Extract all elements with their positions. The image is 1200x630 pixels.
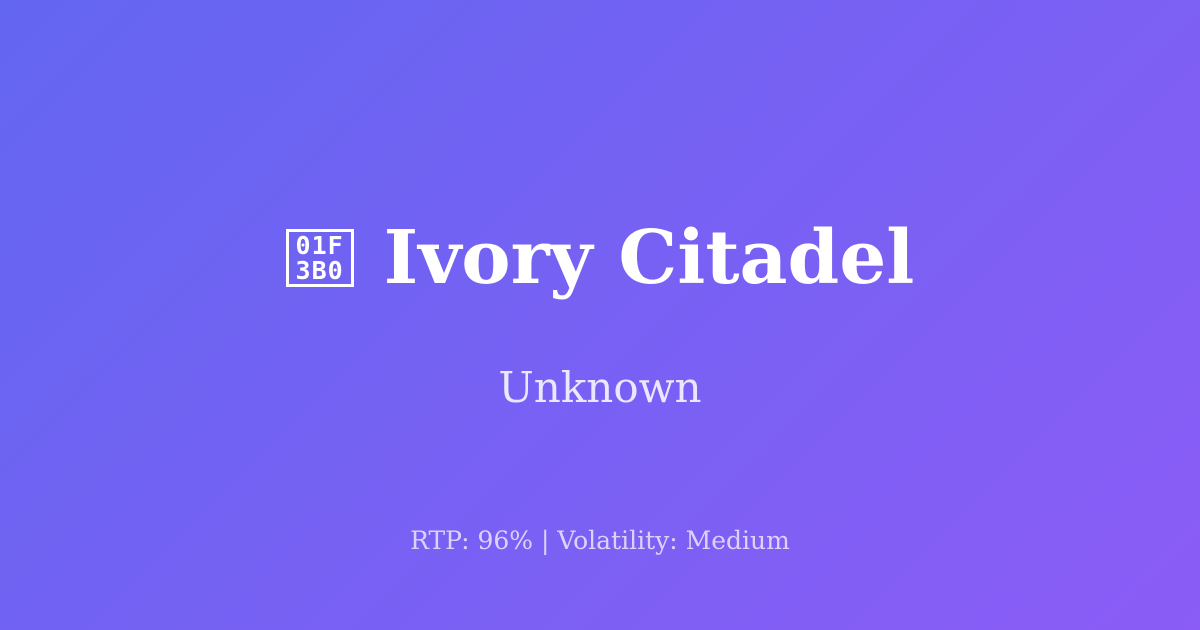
- tofu-codepoint-bottom: 3B0: [296, 258, 344, 284]
- game-title: Ivory Citadel: [384, 221, 915, 295]
- game-provider-label: Unknown: [498, 367, 701, 409]
- game-stats-line: RTP: 96% | Volatility: Medium: [0, 528, 1200, 553]
- og-share-card: 01F 3B0 Ivory Citadel Unknown RTP: 96% |…: [0, 0, 1200, 630]
- slot-machine-emoji-tofu-icon: 01F 3B0: [286, 229, 354, 287]
- tofu-codepoint-top: 01F: [296, 233, 344, 259]
- title-row: 01F 3B0 Ivory Citadel: [286, 221, 915, 295]
